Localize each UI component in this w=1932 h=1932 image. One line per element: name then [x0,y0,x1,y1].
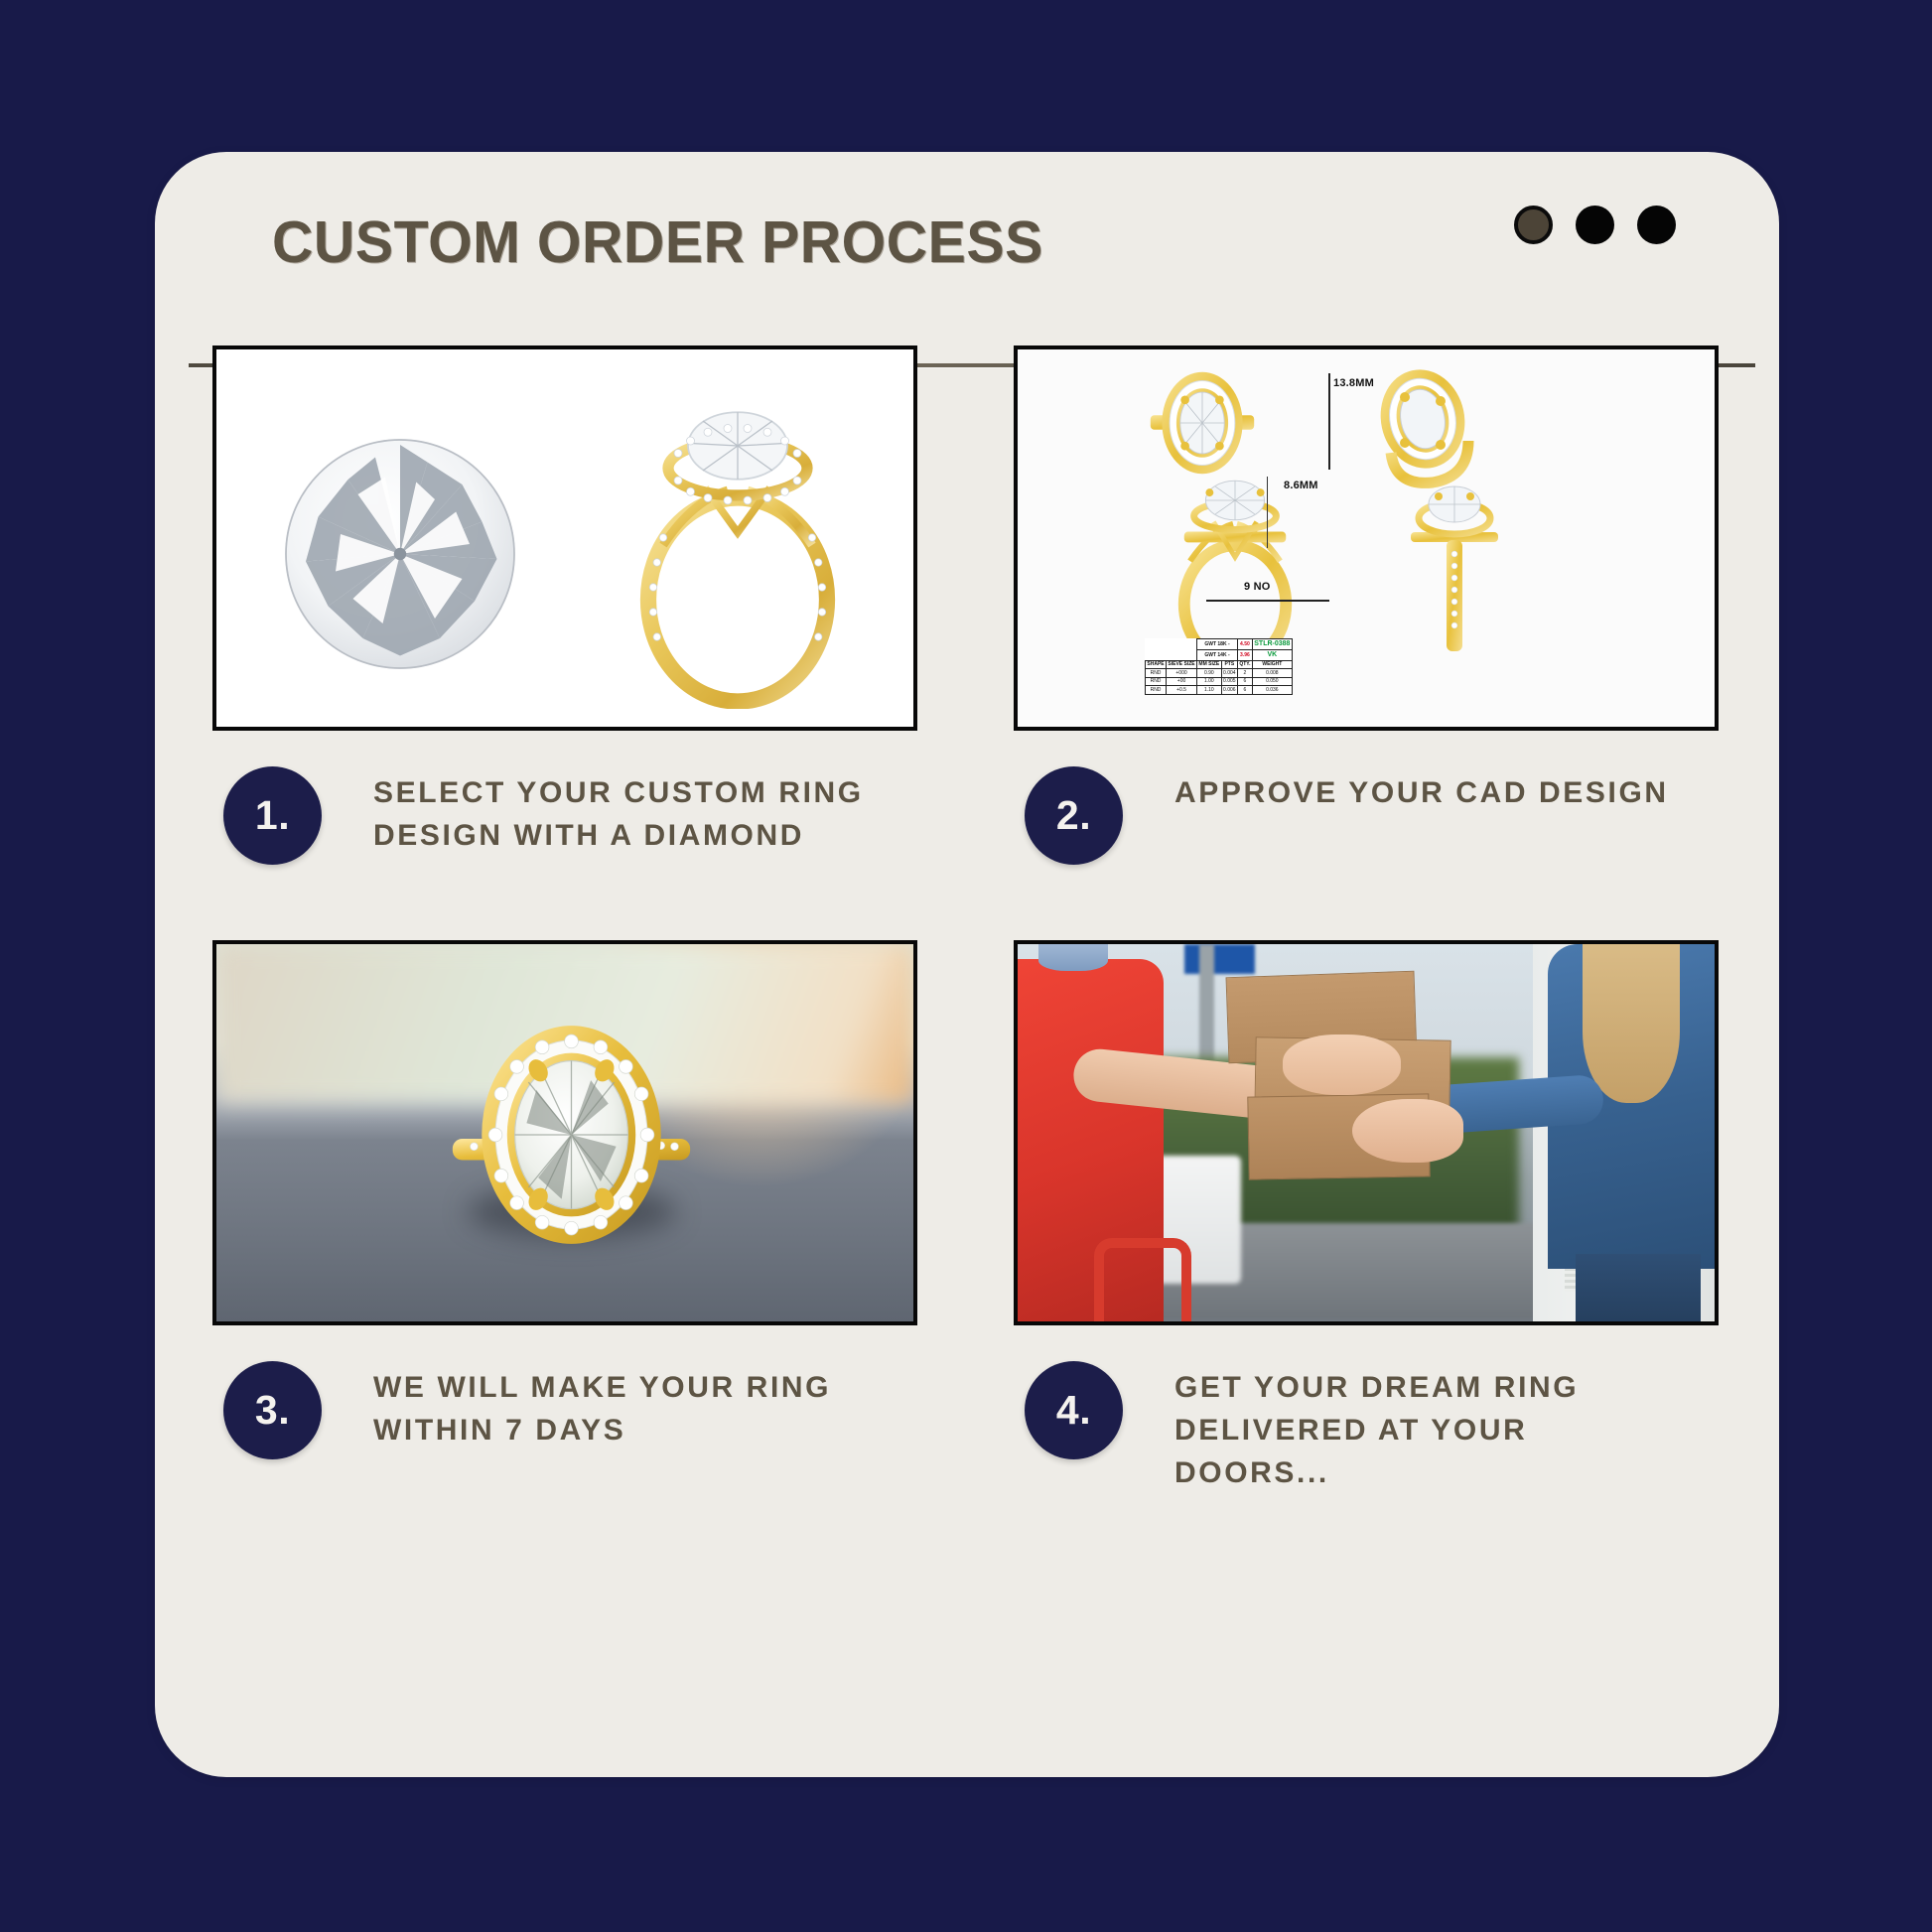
steps-grid: 1. SELECT YOUR CUSTOM RING DESIGN WITH A… [212,345,1722,1495]
gwt-14k-value: 3.96 [1237,649,1252,660]
table-row: GWT 18K - 4.50 STLR-0388 [1146,639,1293,650]
col-qty: QTY. [1237,660,1252,668]
cell-sieve: +000 [1167,669,1197,677]
customer-jeans [1576,1254,1701,1321]
hand-trolley [1094,1238,1191,1321]
process-card: CUSTOM ORDER PROCESS [155,152,1779,1777]
step-card-3: 3. WE WILL MAKE YOUR RING WITHIN 7 DAYS [212,940,917,1495]
table-row: RND +00 1.00 0.005 6 0.050 [1146,677,1293,685]
table-header-row: SHAPE SIEVE SIZE MM SIZE PTS QTY. WEIGHT [1146,660,1293,668]
step-1-caption: 1. SELECT YOUR CUSTOM RING DESIGN WITH A… [212,766,917,865]
cell-pts: 0.004 [1221,669,1237,677]
step-1-label: SELECT YOUR CUSTOM RING DESIGN WITH A DI… [373,772,890,858]
step-card-2: 13.8MM 8.6MM 9 NO GWT 18K - 4.50 STLR-03… [1014,345,1719,865]
cell-mm: 1.00 [1197,677,1222,685]
table-row: GWT 14K - 3.96 VK [1146,649,1293,660]
step-2-label: APPROVE YOUR CAD DESIGN [1174,772,1669,815]
step-1-badge: 1. [223,766,322,865]
cad-dim-height: 13.8MM [1333,377,1374,389]
cell-weight: 0.008 [1252,669,1292,677]
step-2-caption: 2. APPROVE YOUR CAD DESIGN [1014,766,1719,865]
cad-view-top-icon [1145,365,1260,481]
cad-dim-width: 8.6MM [1284,480,1318,491]
cell-sieve: +0.5 [1167,686,1197,694]
col-sieve-size: SIEVE SIZE [1167,660,1197,668]
designer-initials: VK [1252,649,1292,660]
step-4-image [1014,940,1719,1325]
customer-hair [1583,944,1680,1103]
courier-hand [1283,1035,1401,1095]
style-code: STLR-0388 [1252,639,1292,650]
face-mask-icon [1038,944,1108,971]
cell-qty: 2 [1237,669,1252,677]
step-3-image [212,940,917,1325]
cad-spec-table: GWT 18K - 4.50 STLR-0388 GWT 14K - 3.96 … [1145,638,1293,695]
cad-view-side-icon [1403,475,1506,669]
gwt-14k-label: GWT 14K - [1197,649,1238,660]
col-pts: PTS [1221,660,1237,668]
col-mm-size: MM SIZE [1197,660,1222,668]
cad-height-leader [1328,373,1330,470]
cad-size-leader [1206,600,1329,602]
cell-sieve: +00 [1167,677,1197,685]
finished-ring-photo-icon [445,1022,698,1250]
step-4-caption: 4. GET YOUR DREAM RING DELIVERED AT YOUR… [1014,1361,1719,1495]
step-card-1: 1. SELECT YOUR CUSTOM RING DESIGN WITH A… [212,345,917,865]
cell-shape: RND [1146,669,1167,677]
spacer-cell [1167,649,1197,660]
step-card-4: 4. GET YOUR DREAM RING DELIVERED AT YOUR… [1014,940,1719,1495]
window-dot-black-1-icon[interactable] [1576,206,1614,244]
cell-shape: RND [1146,686,1167,694]
cell-weight: 0.036 [1252,686,1292,694]
road-sign [1184,944,1254,974]
spacer-cell [1146,639,1167,650]
cell-pts: 0.006 [1221,686,1237,694]
card-header: CUSTOM ORDER PROCESS [155,152,1779,365]
cell-mm: 0.90 [1197,669,1222,677]
step-4-badge: 4. [1025,1361,1123,1459]
cad-view-angled-icon [1365,367,1484,490]
cell-pts: 0.005 [1221,677,1237,685]
step-4-label: GET YOUR DREAM RING DELIVERED AT YOUR DO… [1174,1367,1691,1495]
customer-hand [1352,1099,1463,1164]
cell-weight: 0.050 [1252,677,1292,685]
table-row: RND +0.5 1.10 0.006 6 0.036 [1146,686,1293,694]
col-shape: SHAPE [1146,660,1167,668]
spacer-cell [1146,649,1167,660]
cell-shape: RND [1146,677,1167,685]
cad-width-leader [1267,477,1268,548]
window-dot-black-2-icon[interactable] [1637,206,1676,244]
cell-qty: 6 [1237,686,1252,694]
page-title: CUSTOM ORDER PROCESS [272,208,1043,276]
step-3-badge: 3. [223,1361,322,1459]
diamond-illustration-icon [276,425,524,673]
cell-qty: 6 [1237,677,1252,685]
step-2-badge: 2. [1025,766,1123,865]
gwt-18k-label: GWT 18K - [1197,639,1238,650]
cell-mm: 1.10 [1197,686,1222,694]
table-row: RND +000 0.90 0.004 2 0.008 [1146,669,1293,677]
step-3-label: WE WILL MAKE YOUR RING WITHIN 7 DAYS [373,1367,890,1452]
col-weight: WEIGHT [1252,660,1292,668]
gwt-18k-value: 4.50 [1237,639,1252,650]
step-2-image: 13.8MM 8.6MM 9 NO GWT 18K - 4.50 STLR-03… [1014,345,1719,731]
gold-ring-illustration-icon [614,381,862,709]
cad-dim-ring-size: 9 NO [1244,581,1270,593]
step-3-caption: 3. WE WILL MAKE YOUR RING WITHIN 7 DAYS [212,1361,917,1459]
spacer-cell [1167,639,1197,650]
window-controls [1514,206,1676,244]
step-1-image [212,345,917,731]
window-dot-muted-icon[interactable] [1514,206,1553,244]
